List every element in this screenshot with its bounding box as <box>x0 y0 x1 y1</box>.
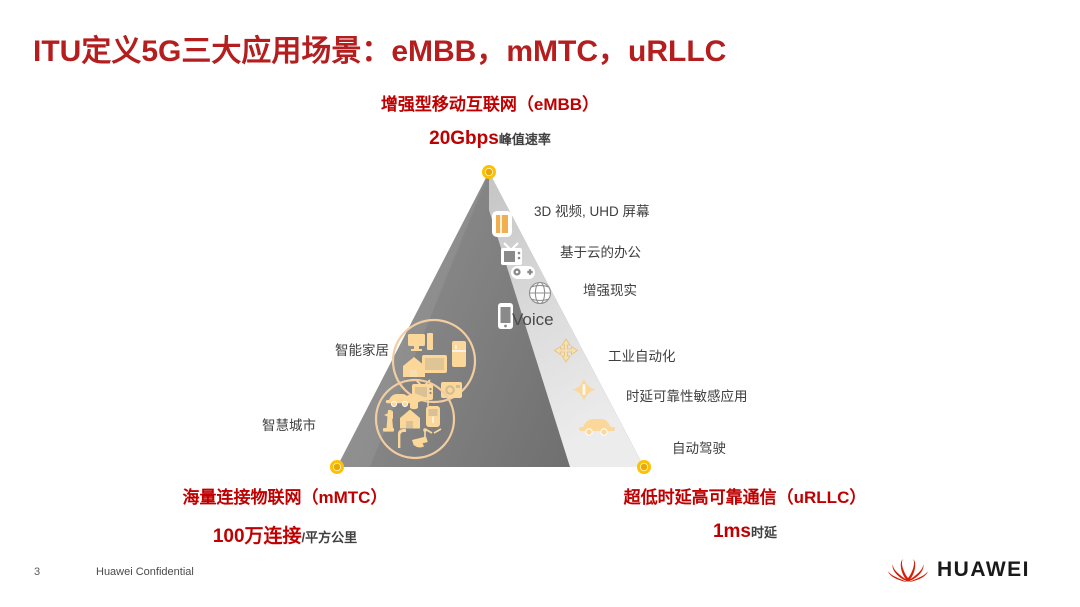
camera-icon <box>441 382 462 398</box>
scene-label-3d-video: 3D 视频, UHD 屏幕 <box>534 200 650 220</box>
refrigerator-icon <box>452 341 466 367</box>
callout-urllc-value: 1ms <box>713 521 751 542</box>
confidential-notice: Huawei Confidential <box>96 566 194 578</box>
callout-mmtc-metric: 100万连接/平方公里 <box>120 521 450 548</box>
callout-mmtc-title: 海量连接物联网（mMTC） <box>120 483 450 508</box>
page-number: 3 <box>34 566 40 578</box>
callout-urllc-metric: 1ms时延 <box>560 521 930 543</box>
callout-embb: 增强型移动互联网（eMBB） 20Gbps峰值速率 <box>340 90 640 150</box>
callout-embb-title: 增强型移动互联网（eMBB） <box>340 90 640 115</box>
vertex-marker-top <box>482 165 496 179</box>
huawei-logo: HUAWEI <box>888 557 1030 583</box>
callout-embb-value: 20Gbps <box>429 128 499 149</box>
callout-mmtc-unit: /平方公里 <box>302 530 358 545</box>
callout-urllc: 超低时延高可靠通信（uRLLC） 1ms时延 <box>560 483 930 543</box>
smartphone-icon <box>498 303 513 329</box>
slide-root: ITU定义5G三大应用场景：eMBB，mMTC，uRLLC <box>0 0 1080 607</box>
globe-icon <box>530 283 551 304</box>
callout-urllc-unit: 时延 <box>751 525 777 540</box>
scene-label-ar: 增强现实 <box>583 279 637 299</box>
callout-embb-unit: 峰值速率 <box>499 132 551 147</box>
scene-label-voice: Voice <box>512 310 554 330</box>
scene-label-latency: 时延可靠性敏感应用 <box>626 385 748 405</box>
callout-embb-metric: 20Gbps峰值速率 <box>340 128 640 150</box>
scene-label-industrial: 工业自动化 <box>608 345 676 365</box>
callout-urllc-title: 超低时延高可靠通信（uRLLC） <box>560 483 930 508</box>
gamepad-icon <box>511 266 535 279</box>
scene-label-smart-home: 智能家居 <box>335 339 389 359</box>
tablet-icon <box>492 211 512 237</box>
huawei-wordmark: HUAWEI <box>937 558 1030 582</box>
scene-label-cloud-office: 基于云的办公 <box>560 241 641 261</box>
huawei-flower-icon <box>888 557 928 583</box>
vertex-marker-bottom-left <box>330 460 344 474</box>
vertex-marker-bottom-right <box>637 460 651 474</box>
callout-mmtc: 海量连接物联网（mMTC） 100万连接/平方公里 <box>120 483 450 548</box>
callout-mmtc-value: 100万连接 <box>213 526 302 547</box>
scene-label-auto-driving: 自动驾驶 <box>672 437 726 457</box>
scene-label-smart-city: 智慧城市 <box>262 414 316 434</box>
screen-icon <box>422 355 447 373</box>
